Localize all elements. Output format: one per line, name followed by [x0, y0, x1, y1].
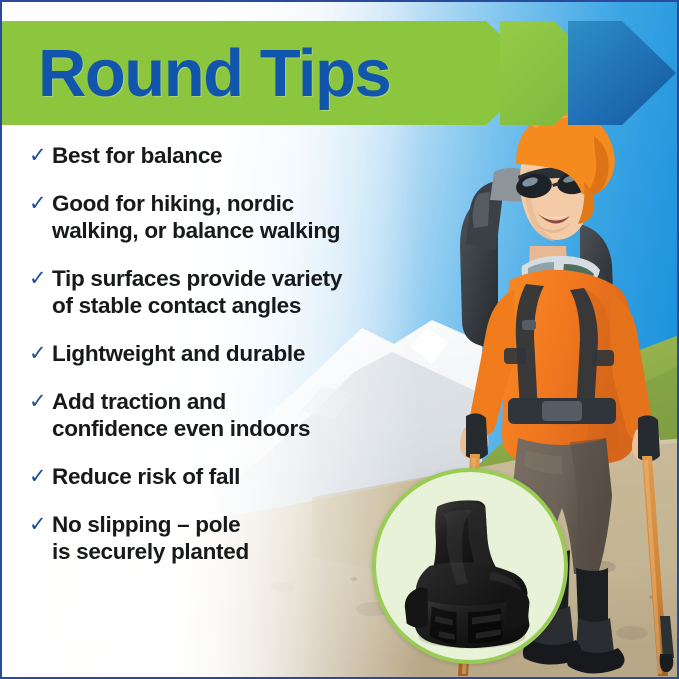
list-item: ✓ Add traction and confidence even indoo… [29, 388, 449, 442]
list-item-label: Add traction and confidence even indoors [52, 388, 310, 442]
list-item: ✓ Good for hiking, nordic walking, or ba… [29, 190, 449, 244]
check-icon: ✓ [29, 143, 52, 168]
check-icon: ✓ [29, 389, 52, 414]
check-icon: ✓ [29, 266, 52, 291]
check-icon: ✓ [29, 464, 52, 489]
check-icon: ✓ [29, 341, 52, 366]
list-item: ✓ Lightweight and durable [29, 340, 449, 367]
infographic-canvas: Round Tips ✓ Best for balance ✓ Good for… [0, 0, 679, 679]
product-closeup-inset [372, 468, 568, 664]
list-item-label: Reduce risk of fall [52, 463, 240, 490]
chevron-blue [568, 21, 676, 125]
list-item-label: No slipping – pole is securely planted [52, 511, 249, 565]
list-item: ✓ Best for balance [29, 142, 449, 169]
list-item: ✓ Reduce risk of fall [29, 463, 449, 490]
page-title: Round Tips [38, 21, 390, 125]
list-item-label: Best for balance [52, 142, 222, 169]
list-item-label: Good for hiking, nordic walking, or bala… [52, 190, 340, 244]
check-icon: ✓ [29, 191, 52, 216]
list-item-label: Tip surfaces provide variety of stable c… [52, 265, 342, 319]
list-item-label: Lightweight and durable [52, 340, 305, 367]
check-icon: ✓ [29, 512, 52, 537]
list-item: ✓ Tip surfaces provide variety of stable… [29, 265, 449, 319]
